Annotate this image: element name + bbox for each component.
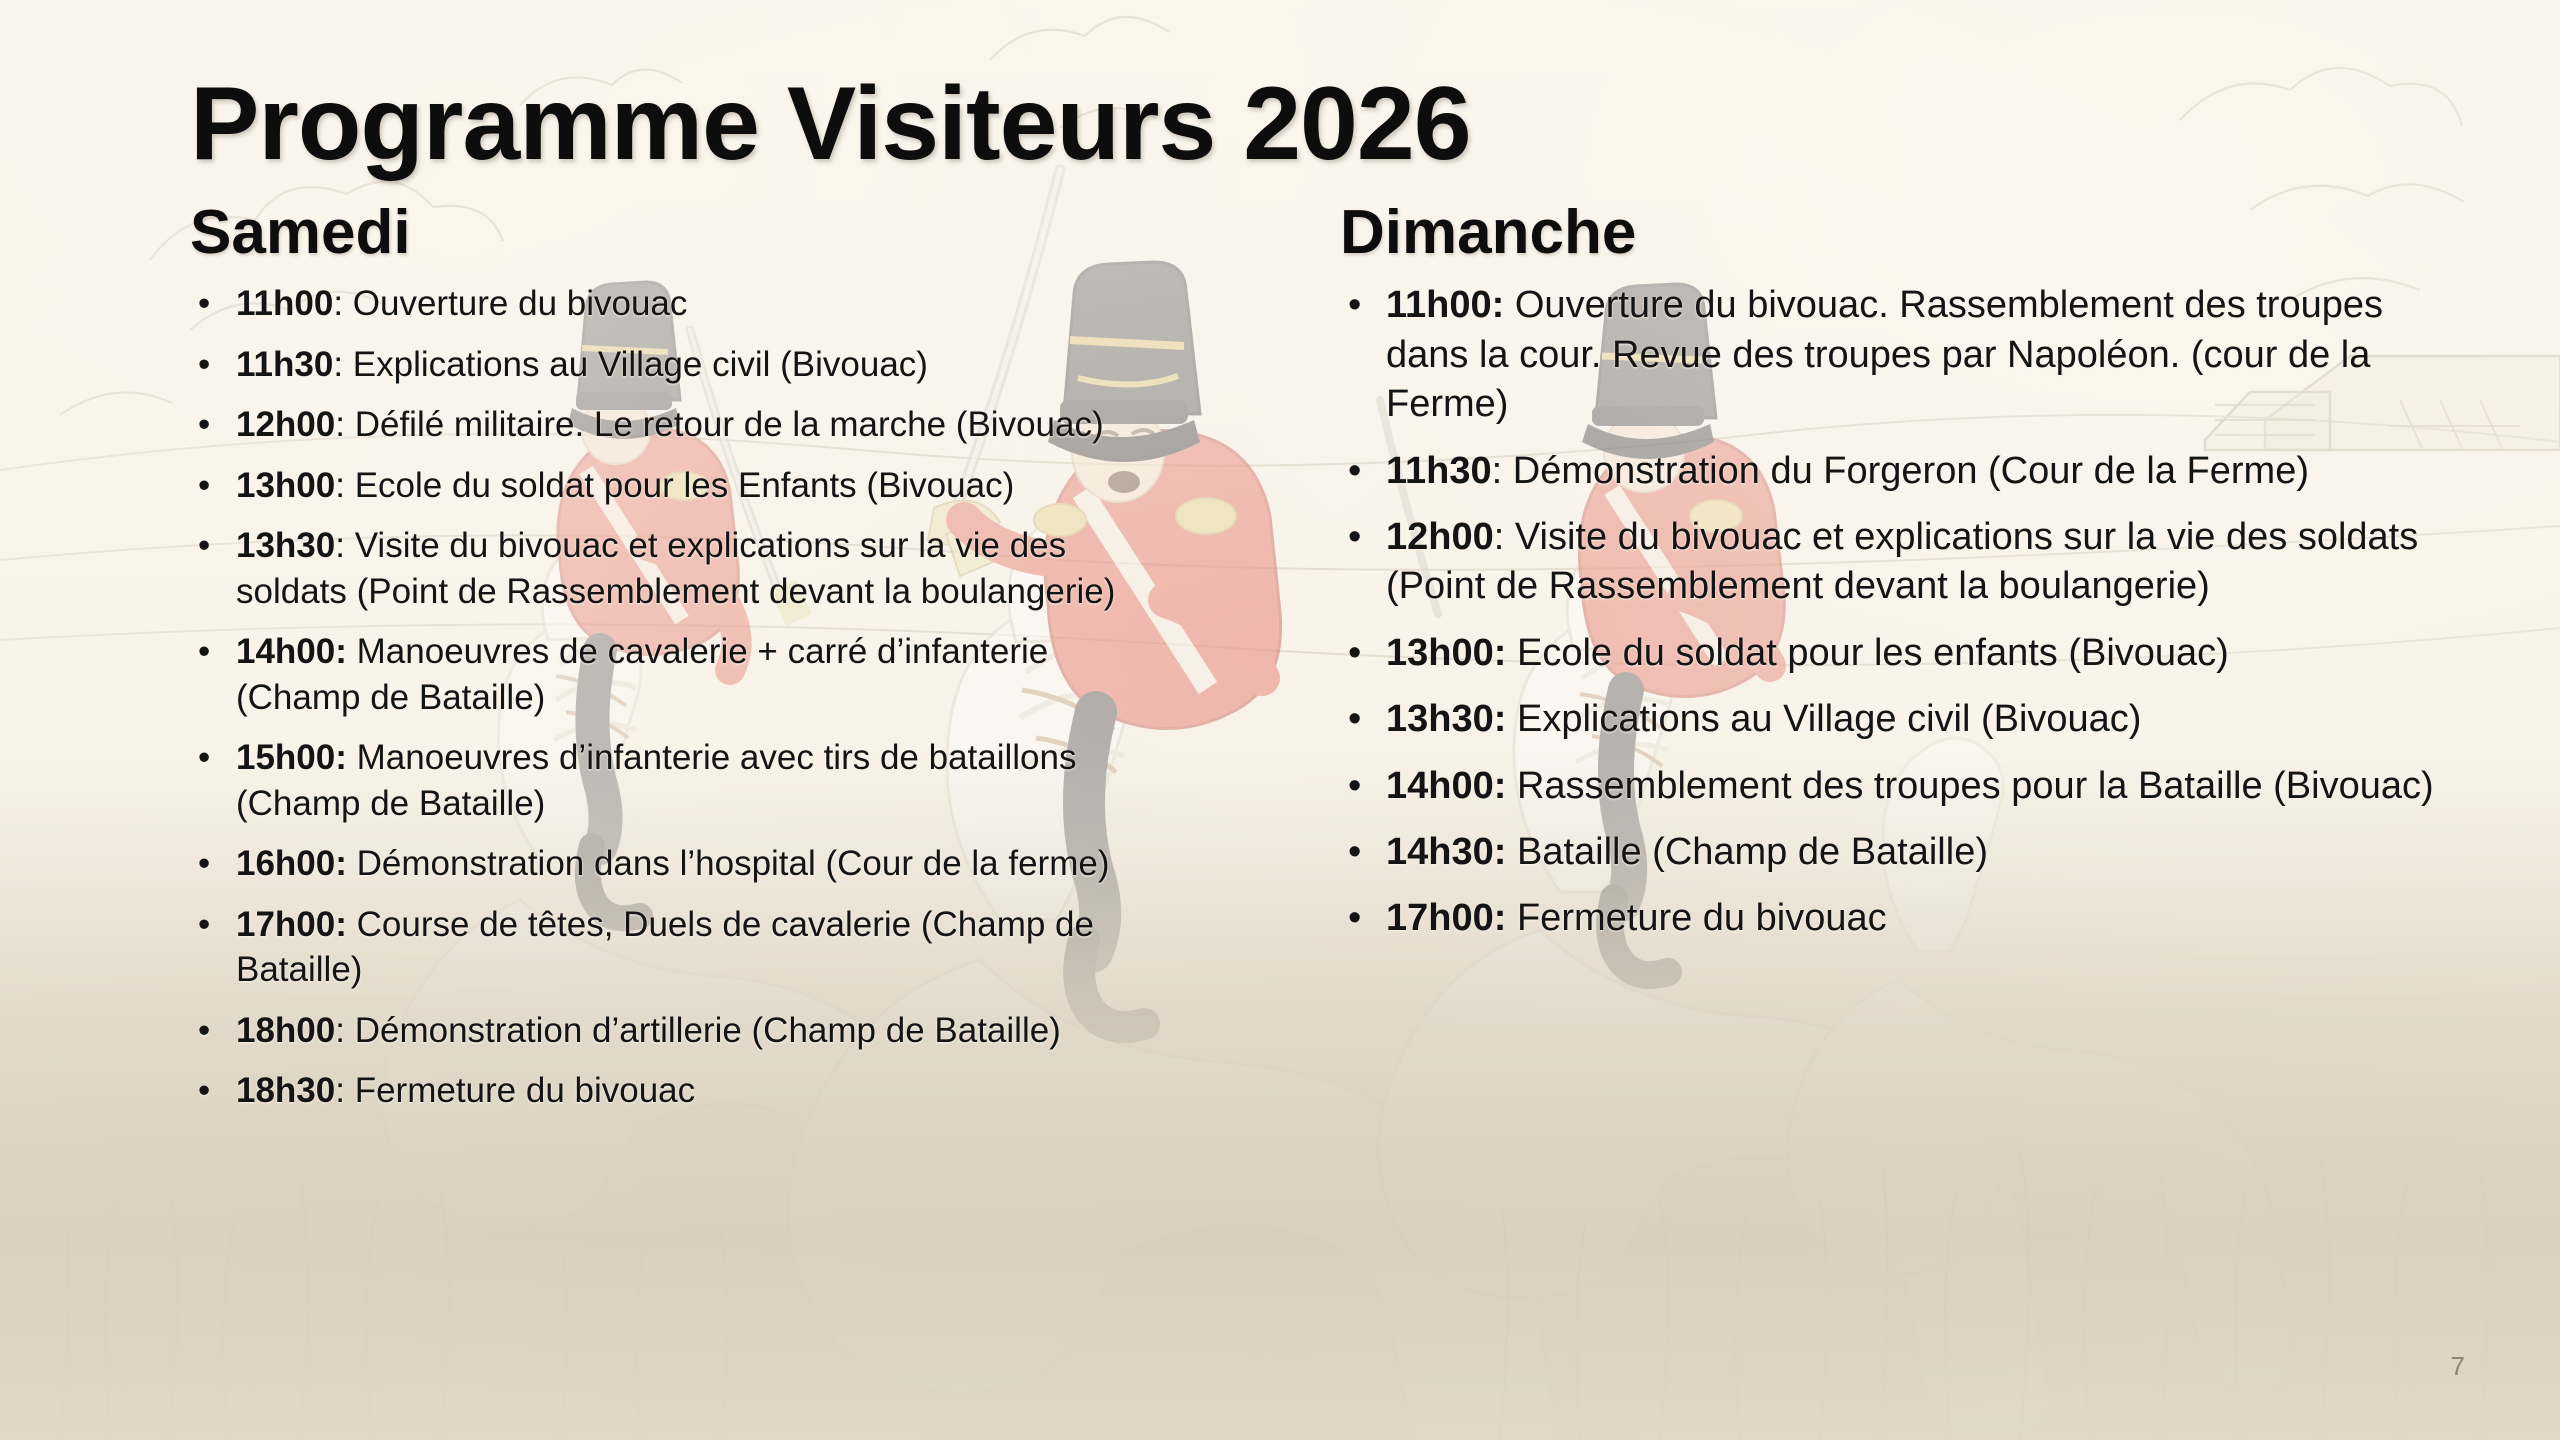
schedule-item-description: Défilé militaire. Le retour de la marche… [355, 405, 1104, 444]
schedule-item-time: 13h30 [236, 526, 335, 565]
schedule-item-separator: : [335, 1011, 354, 1050]
schedule-item-description: Manoeuvres d’infanterie avec tirs de bat… [236, 738, 1076, 823]
schedule-column-samedi: Samedi 11h00: Ouverture du bivouac11h30:… [190, 198, 1180, 1129]
schedule-item: 13h00: Ecole du soldat pour les Enfants … [190, 463, 1180, 509]
schedule-item-description: Démonstration d’artillerie (Champ de Bat… [355, 1011, 1061, 1050]
schedule-item-time: 13h00: [1386, 632, 1506, 674]
schedule-item-description: Démonstration du Forgeron (Cour de la Fe… [1513, 450, 2309, 492]
schedule-item-separator: : [335, 466, 354, 505]
schedule-item-description: Fermeture du bivouac [355, 1071, 695, 1110]
schedule-item-separator [347, 905, 357, 944]
schedule-item-time: 11h30 [236, 345, 333, 384]
schedule-item-separator: : [333, 345, 352, 384]
schedule-item-time: 18h00 [236, 1011, 335, 1050]
schedule-item-description: Fermeture du bivouac [1517, 897, 1887, 939]
schedule-item: 12h00: Visite du bivouac et explications… [1340, 513, 2460, 612]
schedule-list-dimanche: 11h00: Ouverture du bivouac. Rassembleme… [1340, 281, 2460, 943]
schedule-item-description: Explications au Village civil (Bivouac) [1517, 698, 2141, 740]
page-number: 7 [2451, 1351, 2465, 1382]
schedule-item-description: Visite du bivouac et explications sur la… [236, 526, 1115, 611]
schedule-item-description: Démonstration dans l’hospital (Cour de l… [357, 844, 1110, 883]
schedule-item-time: 18h30 [236, 1071, 335, 1110]
schedule-item-separator: : [335, 1071, 354, 1110]
schedule-item-description: Explications au Village civil (Bivouac) [353, 345, 928, 384]
schedule-item-time: 12h00 [1386, 516, 1494, 558]
schedule-item-time: 17h00: [1386, 897, 1506, 939]
day-heading-samedi: Samedi [190, 198, 1180, 267]
schedule-item: 13h30: Visite du bivouac et explications… [190, 523, 1180, 614]
schedule-item-time: 16h00: [236, 844, 347, 883]
schedule-item-time: 12h00 [236, 405, 335, 444]
schedule-item: 12h00: Défilé militaire. Le retour de la… [190, 402, 1180, 448]
schedule-item: 11h00: Ouverture du bivouac [190, 281, 1180, 327]
schedule-item: 17h00: Fermeture du bivouac [1340, 894, 2460, 943]
schedule-item-time: 11h00: [1386, 284, 1504, 326]
schedule-item: 14h00: Rassemblement des troupes pour la… [1340, 762, 2460, 811]
schedule-item-separator [1506, 897, 1517, 939]
schedule-item-description: Bataille (Champ de Bataille) [1517, 831, 1988, 873]
schedule-item-separator: : [1492, 450, 1513, 492]
schedule-column-dimanche: Dimanche 11h00: Ouverture du bivouac. Ra… [1340, 198, 2460, 961]
schedule-item: 15h00: Manoeuvres d’infanterie avec tirs… [190, 735, 1180, 826]
schedule-item-time: 13h30: [1386, 698, 1506, 740]
schedule-item-separator [347, 632, 357, 671]
schedule-item-time: 13h00 [236, 466, 335, 505]
page-title: Programme Visiteurs 2026 [190, 70, 1471, 179]
schedule-item: 13h00: Ecole du soldat pour les enfants … [1340, 629, 2460, 678]
schedule-item-time: 14h00: [236, 632, 347, 671]
schedule-item: 13h30: Explications au Village civil (Bi… [1340, 695, 2460, 744]
schedule-item-separator [1506, 765, 1517, 807]
schedule-item: 11h30: Démonstration du Forgeron (Cour d… [1340, 447, 2460, 496]
schedule-item-description: Visite du bivouac et explications sur la… [1386, 516, 2418, 607]
schedule-item-description: Ecole du soldat pour les enfants (Bivoua… [1517, 632, 2229, 674]
schedule-item-time: 11h00 [236, 284, 333, 323]
schedule-item-separator: : [335, 526, 354, 565]
schedule-item: 17h00: Course de têtes, Duels de cavaler… [190, 902, 1180, 993]
schedule-item-description: Ecole du soldat pour les Enfants (Bivoua… [355, 466, 1015, 505]
schedule-item-time: 15h00: [236, 738, 347, 777]
slide-content: Programme Visiteurs 2026 Samedi 11h00: O… [0, 0, 2560, 1440]
schedule-item: 16h00: Démonstration dans l’hospital (Co… [190, 841, 1180, 887]
schedule-item-description: Rassemblement des troupes pour la Batail… [1517, 765, 2434, 807]
schedule-item-separator [1506, 698, 1517, 740]
schedule-item-time: 14h30: [1386, 831, 1506, 873]
schedule-item-separator [347, 844, 357, 883]
schedule-item: 11h00: Ouverture du bivouac. Rassembleme… [1340, 281, 2460, 429]
schedule-item-time: 14h00: [1386, 765, 1506, 807]
schedule-item: 18h30: Fermeture du bivouac [190, 1068, 1180, 1114]
schedule-item-description: Manoeuvres de cavalerie + carré d’infant… [236, 632, 1048, 717]
schedule-item-separator [1506, 632, 1517, 674]
schedule-item-time: 17h00: [236, 905, 347, 944]
schedule-item-separator [1504, 284, 1515, 326]
schedule-item-separator: : [335, 405, 354, 444]
schedule-list-samedi: 11h00: Ouverture du bivouac11h30: Explic… [190, 281, 1180, 1114]
schedule-item: 18h00: Démonstration d’artillerie (Champ… [190, 1008, 1180, 1054]
schedule-item-description: Ouverture du bivouac [353, 284, 688, 323]
schedule-item-separator [347, 738, 357, 777]
schedule-item-separator: : [333, 284, 352, 323]
schedule-item-separator: : [1494, 516, 1515, 558]
schedule-item-time: 11h30 [1386, 450, 1492, 492]
schedule-item: 14h00: Manoeuvres de cavalerie + carré d… [190, 629, 1180, 720]
presentation-slide: Programme Visiteurs 2026 Samedi 11h00: O… [0, 0, 2560, 1440]
schedule-item: 14h30: Bataille (Champ de Bataille) [1340, 828, 2460, 877]
schedule-item: 11h30: Explications au Village civil (Bi… [190, 342, 1180, 388]
schedule-item-separator [1506, 831, 1517, 873]
schedule-item-description: Ouverture du bivouac. Rassemblement des … [1386, 284, 2383, 425]
day-heading-dimanche: Dimanche [1340, 198, 2460, 267]
schedule-item-description: Course de têtes, Duels de cavalerie (Cha… [236, 905, 1094, 990]
